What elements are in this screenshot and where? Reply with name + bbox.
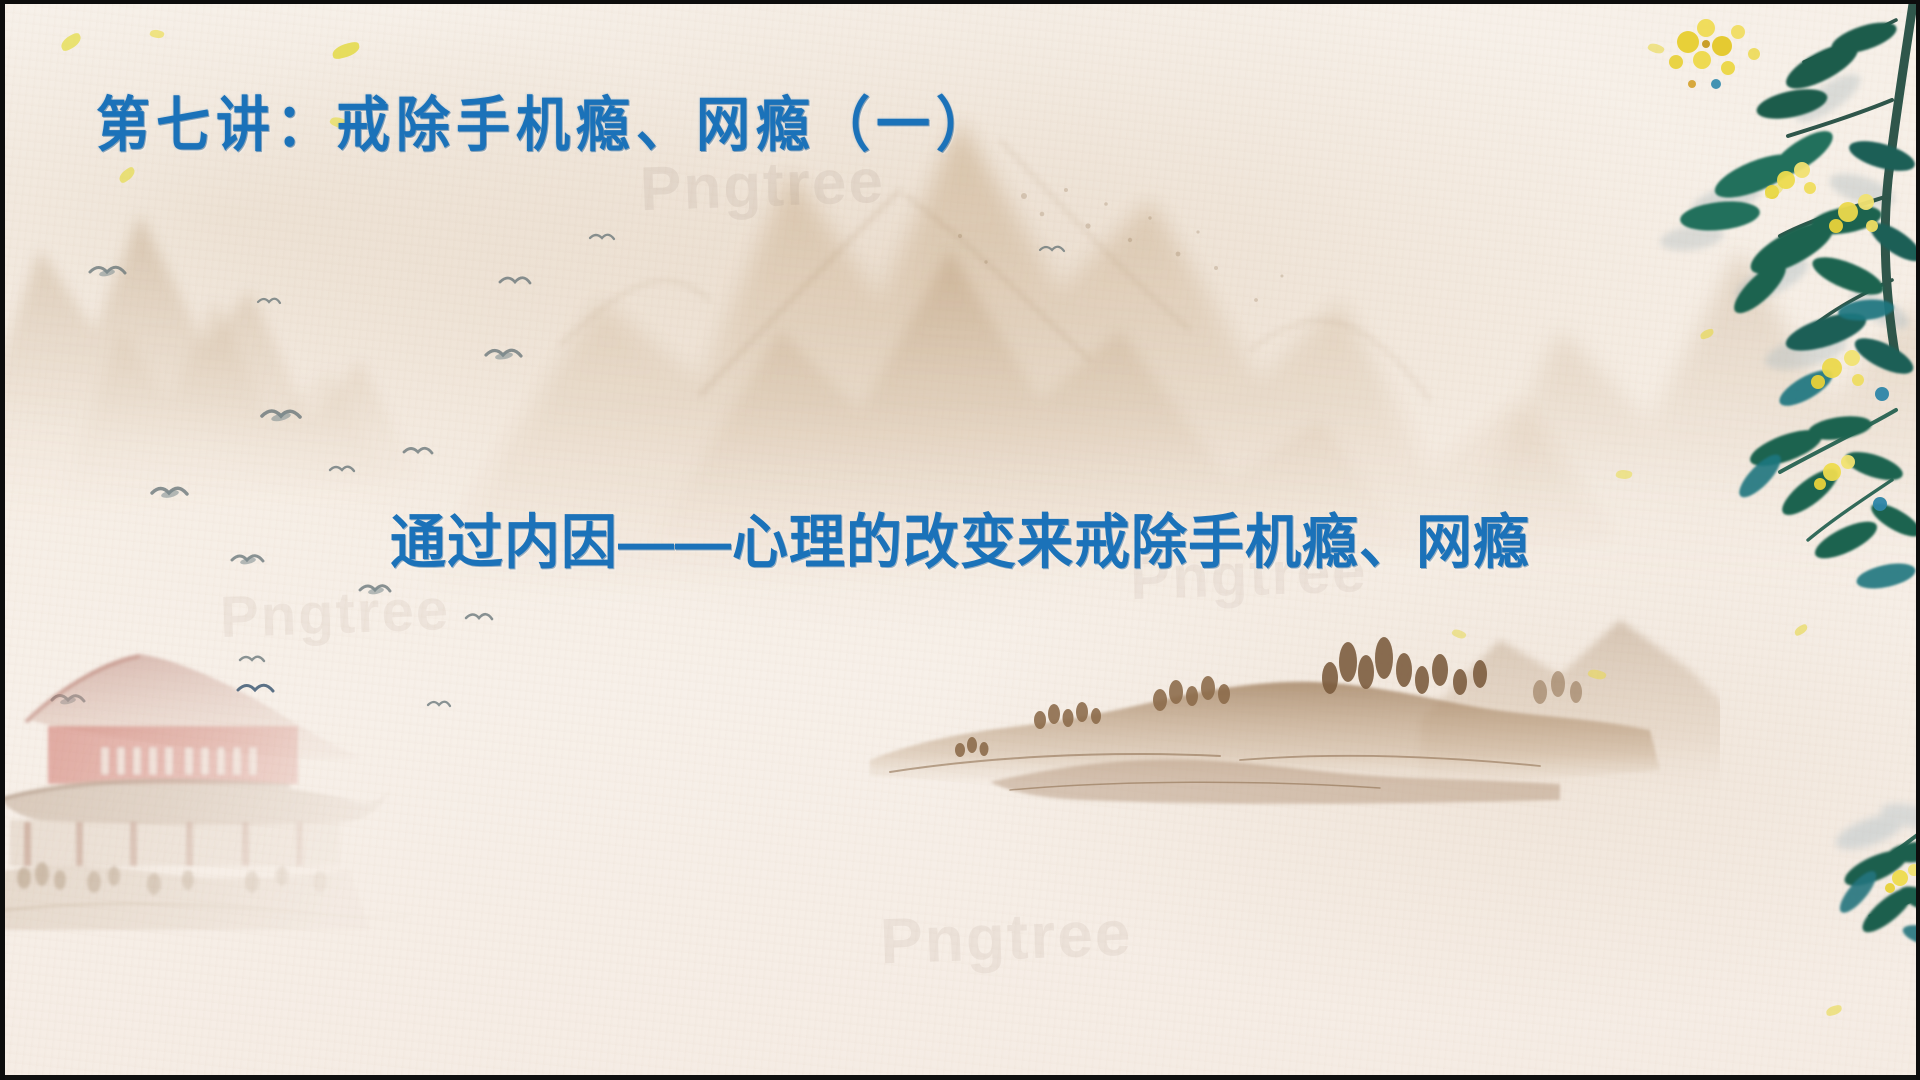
- letterbox-edge-left: [0, 0, 5, 1080]
- floral-branch-bottom-right: [1720, 760, 1920, 1060]
- letterbox-edge-top: [0, 0, 1920, 4]
- slide-title: 第七讲：戒除手机瘾、网瘾（一）: [96, 76, 996, 163]
- letterbox-edge-right: [1916, 0, 1920, 1080]
- chinese-pavilion: [0, 630, 410, 960]
- watermark-text: Pngtree: [879, 896, 1134, 979]
- slide-subtitle: 通过内因——心理的改变来戒除手机瘾、网瘾: [0, 495, 1920, 581]
- ink-wash-island: [860, 600, 1720, 850]
- letterbox-edge-bottom: [0, 1075, 1920, 1080]
- watermark-text: Pngtree: [219, 576, 451, 651]
- slide-canvas: Pngtree Pngtree Pngtree Pngtree 第七讲：戒除手机…: [0, 0, 1920, 1080]
